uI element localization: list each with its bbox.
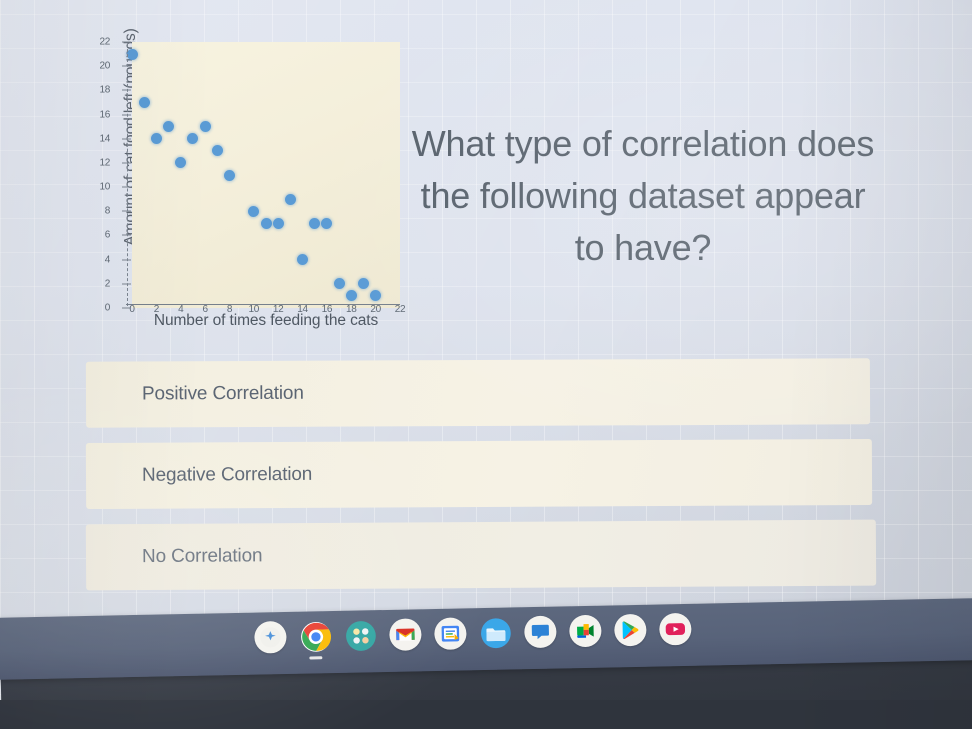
data-point — [139, 97, 150, 108]
files-icon[interactable] — [479, 616, 512, 649]
data-point — [248, 206, 259, 217]
x-tick-label: 2 — [154, 304, 159, 315]
data-point — [200, 121, 211, 132]
chrome-active-indicator — [309, 656, 322, 659]
answer-option-label: Positive Correlation — [142, 383, 304, 406]
meet-icon[interactable] — [569, 615, 602, 648]
data-point — [273, 218, 284, 229]
question-prompt: What type of correlation does the follow… — [406, 118, 880, 275]
y-tick-mark — [122, 162, 131, 163]
data-point — [175, 157, 186, 168]
y-tick-label: 16 — [99, 109, 110, 120]
play-store-icon[interactable] — [614, 614, 647, 647]
quiz-slide: Amount of cat food left (pounds) Number … — [0, 0, 972, 622]
launcher-icon[interactable] — [254, 621, 287, 654]
y-tick-mark — [122, 114, 131, 115]
x-tick-label: 14 — [297, 304, 308, 315]
y-tick-label: 6 — [105, 230, 110, 241]
answer-option-positive[interactable]: Positive Correlation — [86, 358, 870, 427]
y-tick-label: 10 — [99, 182, 110, 193]
y-tick-mark — [122, 138, 131, 139]
y-tick-label: 4 — [105, 254, 110, 265]
gmail-icon[interactable] — [389, 618, 422, 651]
y-tick-label: 0 — [105, 303, 110, 314]
plot-area — [132, 42, 400, 308]
x-tick-label: 8 — [227, 304, 232, 315]
shelf-icon-row — [254, 613, 692, 654]
data-point — [321, 218, 332, 229]
y-tick-mark — [122, 42, 131, 43]
y-tick-label: 22 — [99, 37, 110, 48]
device-bezel-lower — [0, 700, 972, 729]
x-tick-label: 0 — [129, 304, 134, 315]
data-point — [261, 218, 272, 229]
y-tick-mark — [122, 235, 131, 236]
x-tick-label: 4 — [178, 304, 183, 315]
y-tick-label: 18 — [99, 85, 110, 96]
apps-grid-icon[interactable] — [344, 619, 377, 652]
y-tick-mark — [122, 259, 131, 260]
chrome-icon[interactable] — [299, 620, 332, 653]
y-tick-label: 2 — [105, 278, 110, 289]
data-point — [346, 290, 357, 301]
scatter-chart: Amount of cat food left (pounds) Number … — [88, 36, 400, 338]
y-tick-mark — [122, 211, 131, 212]
x-tick-label: 22 — [395, 304, 406, 315]
classroom-icon[interactable] — [434, 617, 467, 650]
youtube-icon[interactable] — [659, 613, 692, 646]
data-point — [358, 278, 369, 289]
y-tick-label: 20 — [99, 61, 110, 72]
data-point — [309, 218, 320, 229]
answer-option-label: Negative Correlation — [142, 464, 312, 487]
data-point — [187, 133, 198, 144]
answer-option-label: No Correlation — [142, 545, 263, 568]
data-point — [151, 133, 162, 144]
y-tick-label: 12 — [99, 157, 110, 168]
answer-option-none[interactable]: No Correlation — [86, 520, 876, 591]
x-tick-label: 12 — [273, 304, 284, 315]
y-tick-label: 14 — [99, 133, 110, 144]
data-point — [224, 170, 235, 181]
data-point — [285, 194, 296, 205]
x-axis-title: Number of times feeding the cats — [132, 312, 400, 330]
x-tick-label: 18 — [346, 304, 357, 315]
x-tick-label: 10 — [249, 304, 260, 315]
data-point — [163, 121, 174, 132]
answer-option-negative[interactable]: Negative Correlation — [86, 439, 872, 509]
y-tick-mark — [122, 187, 131, 188]
chat-icon[interactable] — [524, 616, 557, 649]
y-tick-mark — [122, 90, 131, 91]
y-tick-mark — [122, 308, 131, 309]
chromebook-screen-photo: Amount of cat food left (pounds) Number … — [0, 0, 972, 729]
y-axis-line — [127, 44, 128, 306]
data-point — [297, 254, 308, 265]
data-point — [334, 278, 345, 289]
data-point — [127, 49, 138, 60]
answer-options-list: Positive Correlation Negative Correlatio… — [86, 360, 876, 591]
x-tick-label: 6 — [202, 304, 207, 315]
x-axis-line — [126, 304, 400, 305]
plot-panel — [132, 42, 400, 308]
x-tick-label: 16 — [322, 304, 333, 315]
data-point — [370, 290, 381, 301]
x-tick-label: 20 — [370, 304, 381, 315]
data-point — [212, 145, 223, 156]
y-tick-label: 8 — [105, 206, 110, 217]
y-tick-mark — [122, 66, 131, 67]
y-tick-mark — [122, 283, 131, 284]
